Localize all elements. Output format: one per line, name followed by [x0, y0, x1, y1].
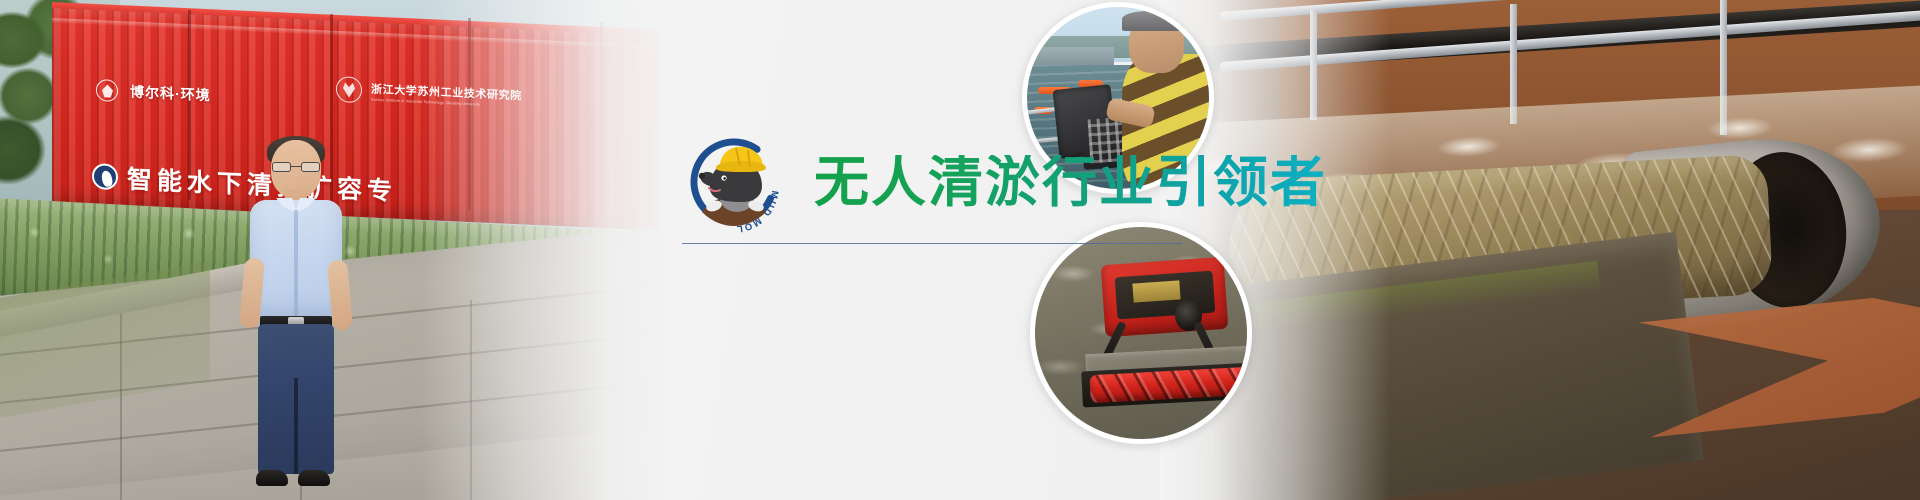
container-brand-name: 博尔科·环境: [130, 83, 211, 103]
mud-mole-logo: MUD MOLE: [680, 128, 788, 236]
person-engineer: [236, 140, 356, 500]
jeans: [258, 324, 334, 474]
right-shoe: [298, 470, 330, 486]
brand-row: MUD MOLE 无人清淤行业引领者: [680, 128, 1327, 236]
left-photo-fade: [420, 0, 660, 500]
boke-mark-icon: [96, 79, 118, 102]
container-badge-icon: [92, 163, 118, 190]
center-brand-block: MUD MOLE 无人清淤行业引领者: [660, 0, 1280, 500]
hero-banner: 博尔科·环境 浙江大学苏州工业技术研究院 Suzhou Institute of…: [0, 0, 1920, 500]
left-photo: 博尔科·环境 浙江大学苏州工业技术研究院 Suzhou Institute of…: [0, 0, 660, 500]
mud-mole-logo-icon: MUD MOLE: [680, 128, 788, 236]
left-shoe: [256, 470, 288, 486]
glasses-icon: [272, 162, 320, 172]
divider-line: [682, 243, 1182, 244]
main-slogan: 无人清淤行业引领者: [814, 155, 1327, 210]
shirt-placket: [294, 210, 298, 318]
university-emblem-icon: [336, 76, 362, 103]
